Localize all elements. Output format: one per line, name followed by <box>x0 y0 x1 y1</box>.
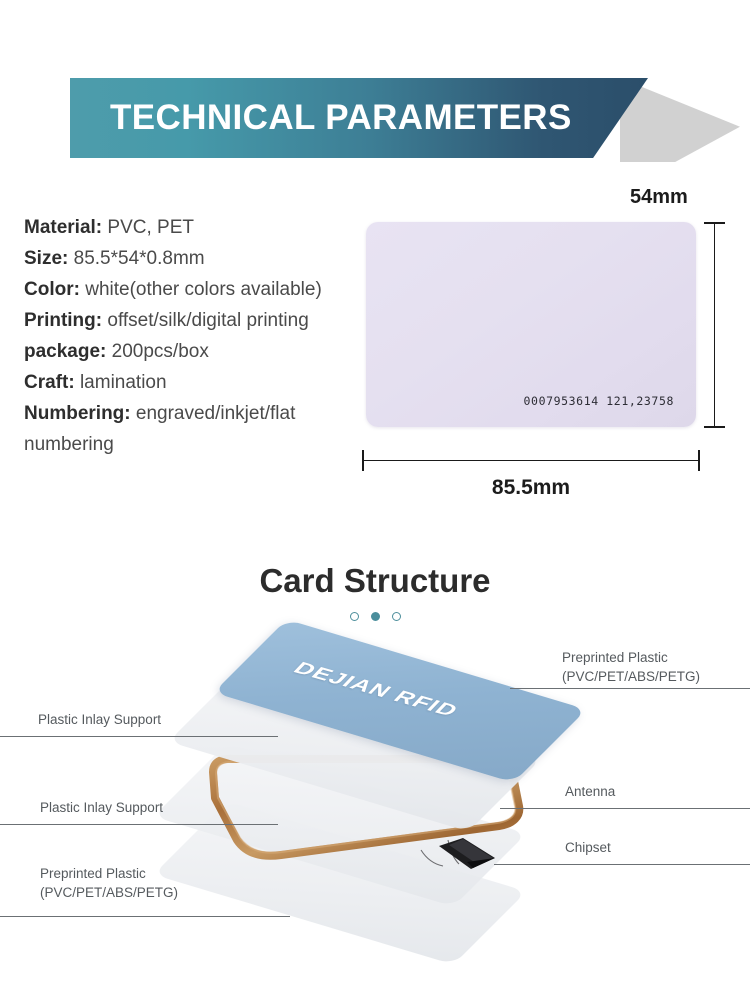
label-line-1: Preprinted Plastic <box>562 648 700 667</box>
carousel-dots[interactable] <box>0 612 750 621</box>
label-lower-plastic-inlay-support: Plastic Inlay Support <box>40 798 163 817</box>
product-spec-page: TECHNICAL PARAMETERS Material: PVC, PET … <box>0 0 750 997</box>
label-bottom-preprinted-plastic: Preprinted Plastic (PVC/PET/ABS/PETG) <box>40 864 178 902</box>
spec-value: lamination <box>80 372 167 393</box>
label-line-2: (PVC/PET/ABS/PETG) <box>562 667 700 686</box>
spec-key: Size: <box>24 248 68 269</box>
width-dimension-label: 85.5mm <box>362 476 700 500</box>
spec-row-package: package: 200pcs/box <box>24 336 364 367</box>
label-top-preprinted-plastic: Preprinted Plastic (PVC/PET/ABS/PETG) <box>562 648 700 686</box>
spec-row-size: Size: 85.5*54*0.8mm <box>24 243 364 274</box>
carousel-dot-3[interactable] <box>392 612 401 621</box>
banner-ribbon: TECHNICAL PARAMETERS <box>70 78 648 158</box>
spec-row-material: Material: PVC, PET <box>24 212 364 243</box>
width-dimension-cap-left <box>362 450 364 471</box>
chipset-icon <box>437 836 497 874</box>
width-dimension-line <box>362 460 700 461</box>
card-brand-text: DEJIAN RFID <box>288 658 464 720</box>
height-dimension-line <box>714 222 715 427</box>
specifications-list: Material: PVC, PET Size: 85.5*54*0.8mm C… <box>24 212 364 460</box>
card-structure-exploded-diagram: DEJIAN RFID Preprinted Plastic (PVC/PET/… <box>0 636 750 997</box>
page-title: TECHNICAL PARAMETERS <box>110 98 572 138</box>
label-line-1: Preprinted Plastic <box>40 864 178 883</box>
card-structure-title: Card Structure <box>0 562 750 600</box>
height-dimension-cap-top <box>704 222 725 224</box>
height-dimension-label: 54mm <box>630 186 688 209</box>
width-dimension-cap-right <box>698 450 700 471</box>
leader-line-top-preprinted-plastic <box>510 688 750 689</box>
spec-value: 85.5*54*0.8mm <box>74 248 205 269</box>
spec-row-craft: Craft: lamination <box>24 367 364 398</box>
spec-key: Numbering: <box>24 403 131 424</box>
card-product-photo: 0007953614 121,23758 <box>366 222 696 427</box>
card-serial-number: 0007953614 121,23758 <box>524 394 674 408</box>
spec-value: offset/silk/digital printing <box>107 310 308 331</box>
spec-key: package: <box>24 341 106 362</box>
spec-key: Printing: <box>24 310 102 331</box>
spec-key: Craft: <box>24 372 75 393</box>
spec-key: Color: <box>24 279 80 300</box>
spec-row-printing: Printing: offset/silk/digital printing <box>24 305 364 336</box>
leader-line-chipset <box>494 864 750 865</box>
spec-row-color: Color: white(other colors available) <box>24 274 364 305</box>
label-antenna: Antenna <box>565 782 615 801</box>
height-dimension-cap-bottom <box>704 426 725 428</box>
leader-line-bottom-preprinted-plastic <box>0 916 290 917</box>
technical-parameters-banner: TECHNICAL PARAMETERS <box>0 78 750 162</box>
spec-row-numbering: Numbering: engraved/inkjet/flat numberin… <box>24 398 364 460</box>
leader-line-upper-plastic-inlay-support <box>0 736 278 737</box>
label-upper-plastic-inlay-support: Plastic Inlay Support <box>38 710 161 729</box>
spec-value: 200pcs/box <box>112 341 209 362</box>
carousel-dot-2[interactable] <box>371 612 380 621</box>
label-line-2: (PVC/PET/ABS/PETG) <box>40 883 178 902</box>
leader-line-lower-plastic-inlay-support <box>0 824 278 825</box>
spec-value: PVC, PET <box>107 217 194 238</box>
label-chipset: Chipset <box>565 838 611 857</box>
carousel-dot-1[interactable] <box>350 612 359 621</box>
leader-line-antenna <box>500 808 750 809</box>
spec-value: white(other colors available) <box>85 279 322 300</box>
spec-key: Material: <box>24 217 102 238</box>
